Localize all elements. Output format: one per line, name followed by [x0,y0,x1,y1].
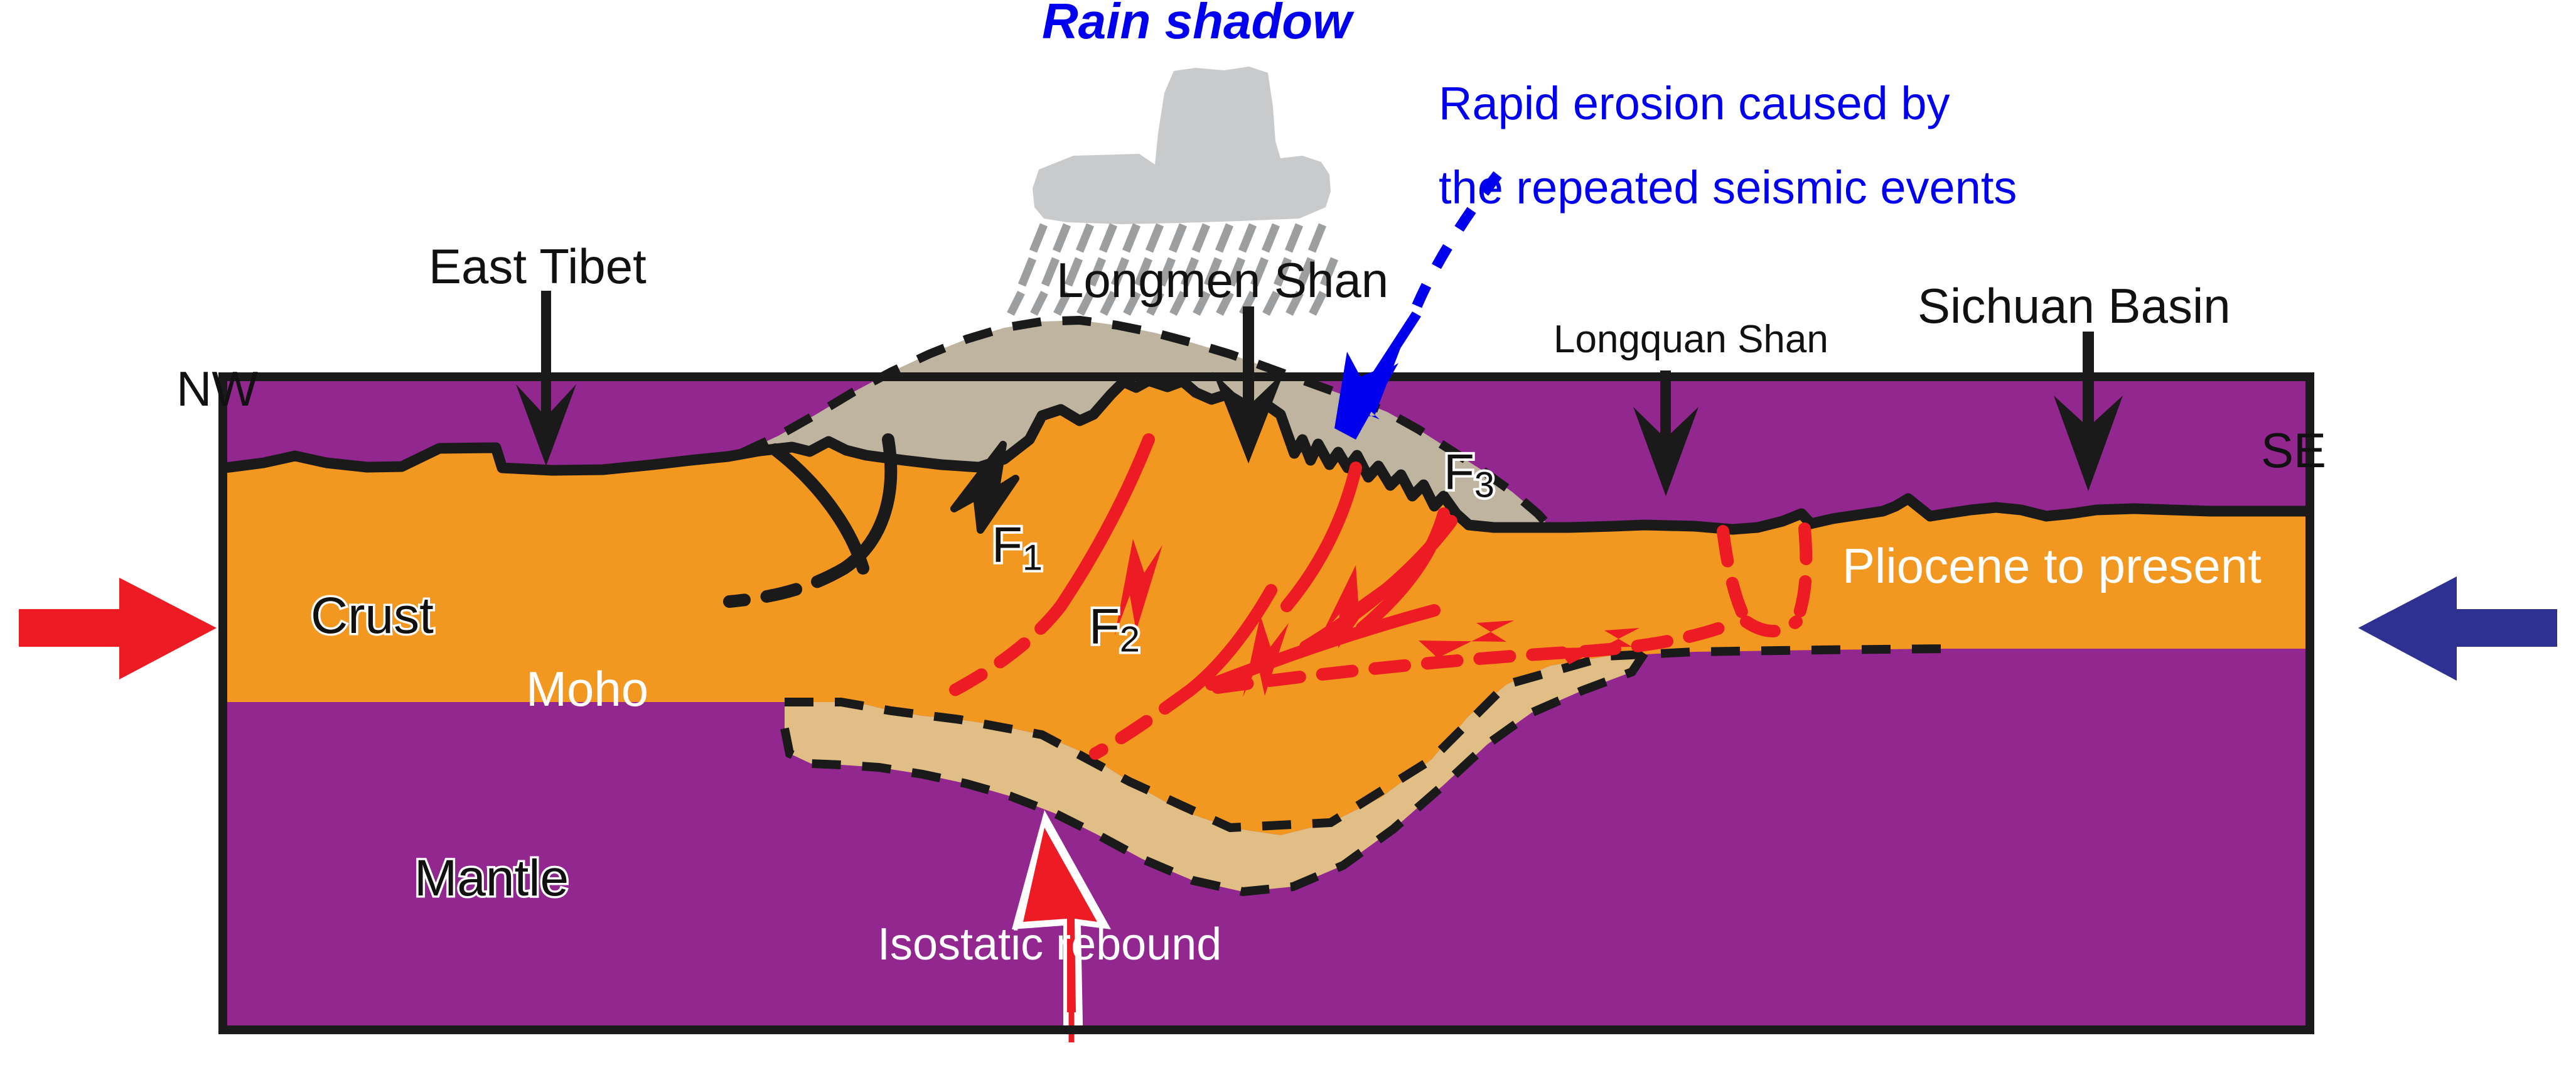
rain-icon [1011,225,1334,314]
cross-section-figure: Rain shadow Rapid erosion caused by the … [0,0,2576,1065]
cloud-icon [1033,67,1331,224]
erosion-pointer-dashed [1414,175,1498,314]
cross-section-canvas [0,0,2576,1065]
compression-arrow-left [19,578,217,679]
rain-cloud-group [1011,67,1334,314]
compression-arrow-right [2358,576,2557,681]
